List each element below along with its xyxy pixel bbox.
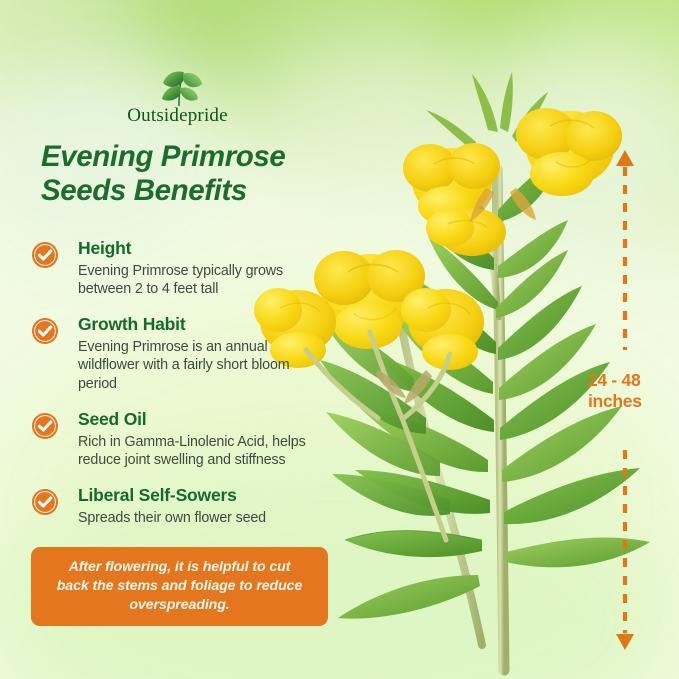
benefit-item: Seed Oil Rich in Gamma-Linolenic Acid, h… [31, 409, 331, 470]
check-circle-icon [31, 412, 59, 440]
check-circle-icon [31, 488, 59, 516]
care-tip-callout: After flowering, it is helpful to cut ba… [31, 547, 328, 626]
check-circle-icon [31, 241, 59, 269]
page-title-line-1: Evening Primrose [41, 140, 285, 173]
benefit-title: Height [78, 238, 331, 259]
brand-logo: Outsidepride [0, 66, 355, 127]
benefit-description: Spreads their own flower seed [78, 509, 331, 528]
brand-name: Outsidepride [127, 105, 228, 127]
benefit-title: Liberal Self-Sowers [78, 485, 331, 506]
benefit-title: Growth Habit [78, 314, 331, 335]
infographic-canvas: Outsidepride Evening Primrose Seeds Bene… [0, 0, 679, 679]
leaf-sprig-icon [147, 66, 209, 108]
height-measurement-label: 24 - 48 inches [588, 370, 674, 412]
benefit-item: Height Evening Primrose typically grows … [31, 238, 331, 299]
page-title: Evening Primrose Seeds Benefits [41, 140, 341, 208]
care-tip-text: After flowering, it is helpful to cut ba… [51, 558, 308, 615]
check-circle-icon [31, 317, 59, 345]
benefit-title: Seed Oil [78, 409, 331, 430]
benefit-description: Evening Primrose is an annual wildflower… [78, 338, 331, 394]
benefit-item: Growth Habit Evening Primrose is an annu… [31, 314, 331, 394]
page-title-line-2: Seeds Benefits [41, 174, 341, 208]
benefits-list: Height Evening Primrose typically grows … [31, 238, 331, 527]
height-value: 24 - 48 [588, 370, 640, 390]
height-unit: inches [588, 391, 674, 412]
benefit-description: Rich in Gamma-Linolenic Acid, helps redu… [78, 433, 331, 470]
benefit-item: Liberal Self-Sowers Spreads their own fl… [31, 485, 331, 527]
benefit-description: Evening Primrose typically grows between… [78, 262, 331, 299]
